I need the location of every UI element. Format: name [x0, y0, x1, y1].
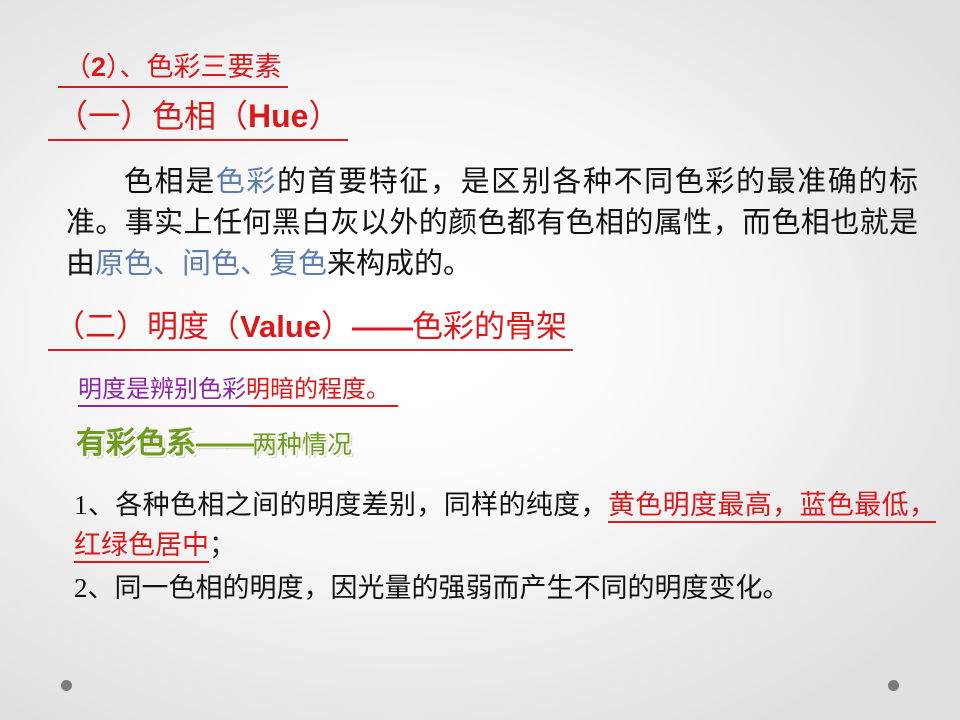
heading-chromatic-rest: 两种情况 [252, 432, 352, 459]
slide-canvas: （2）、色彩三要素 （一）色相（Hue） 色相是色彩的首要特征，是区别各种不同色… [0, 0, 960, 720]
heading-value-term: Value [240, 309, 321, 344]
heading-section-number-prefix: （ [64, 52, 91, 82]
paragraph-hue-definition: 色相是色彩的首要特征，是区别各种不同色彩的最准确的标准。事实上任何黑白灰以外的颜… [66, 162, 918, 285]
heading-value-mid: ） [321, 309, 352, 344]
list-item: 1、各种色相之间的明度差别，同样的纯度，黄色明度最高，蓝色最低，红绿色居中； [74, 485, 936, 565]
value-definition-purple: 明度是辨别色彩 [78, 377, 246, 407]
heading-value-dash: —— [352, 309, 412, 344]
heading-value: （二）明度（Value）——色彩的骨架 [48, 309, 573, 351]
heading-hue-term: Hue [248, 98, 308, 134]
value-definition-line: 明度是辨别色彩明暗的程度。 [78, 376, 398, 405]
heading-hue-prefix: （一）色相（ [56, 98, 248, 134]
decorative-dot-right-icon [888, 680, 899, 691]
list-item-text: 各种色相之间的明度差别，同样的纯度， [115, 490, 608, 520]
list-item-text: 同一色相的明度，因光量的强弱而产生不同的明度变化。 [115, 573, 790, 603]
heading-chromatic-emphasis: 有彩色系 [76, 427, 196, 460]
heading-section-number-digit: 2 [91, 52, 106, 82]
heading-section-number: （2）、色彩三要素 [58, 52, 288, 88]
heading-value-prefix: （二）明度（ [54, 309, 240, 344]
heading-section-number-suffix: ）、色彩三要素 [106, 52, 282, 82]
heading-hue-suffix: ） [308, 98, 340, 134]
heading-value-suffix: 色彩的骨架 [412, 309, 567, 344]
list-item-number: 2、 [74, 573, 115, 603]
paragraph-highlight-color-types: 原色、间色、复色 [95, 248, 327, 280]
list-item-punct: ； [209, 530, 236, 560]
paragraph-part-1: 色相是 [124, 166, 216, 198]
list-item: 2、同一色相的明度，因光量的强弱而产生不同的明度变化。 [74, 568, 936, 608]
heading-chromatic-series: 有彩色系——两种情况 [76, 426, 352, 462]
paragraph-part-3: 来构成的。 [327, 248, 472, 280]
paragraph-highlight-color: 色彩 [216, 166, 277, 198]
decorative-dot-left-icon [61, 680, 72, 691]
heading-chromatic-dash: —— [196, 427, 252, 460]
value-definition-red: 明暗的程度。 [246, 377, 398, 407]
heading-hue: （一）色相（Hue） [48, 98, 348, 141]
list-item-number: 1、 [74, 490, 115, 520]
